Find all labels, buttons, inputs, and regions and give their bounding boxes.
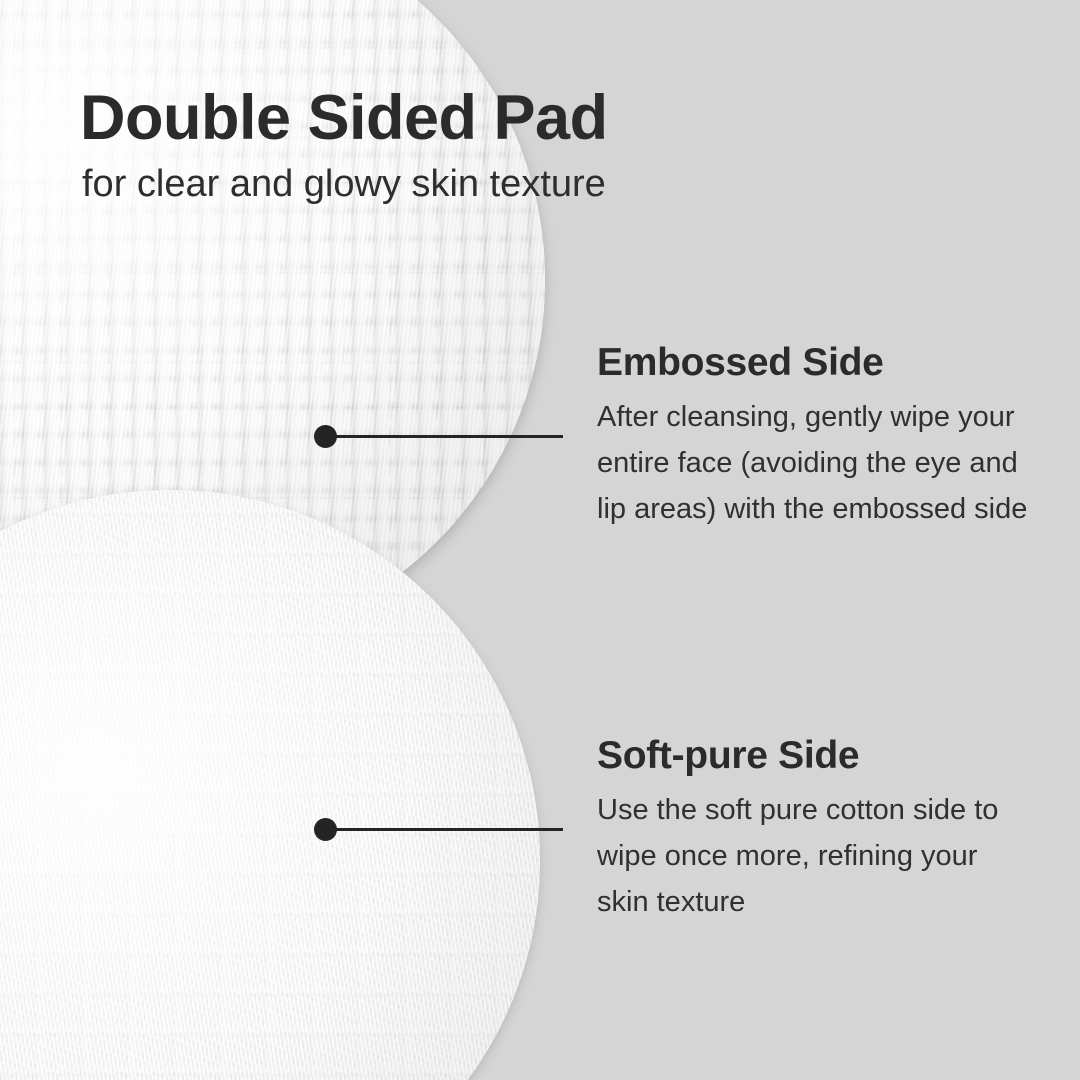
- callout-leader-line: [331, 435, 563, 438]
- callout-body-soft-pure: Use the soft pure cotton side to wipe on…: [597, 788, 1037, 925]
- page-subtitle: for clear and glowy skin texture: [82, 164, 980, 206]
- callout-heading-embossed: Embossed Side: [597, 343, 1037, 384]
- callout-marker-soft-pure: [314, 818, 564, 842]
- callout-body-embossed: After cleansing, gently wipe your entire…: [597, 395, 1037, 532]
- callout-marker-embossed: [314, 425, 564, 449]
- product-infographic: Double Sided Pad for clear and glowy ski…: [0, 0, 1080, 1080]
- callout-soft-pure: Soft-pure Side Use the soft pure cotton …: [597, 736, 1037, 925]
- callout-embossed: Embossed Side After cleansing, gently wi…: [597, 343, 1037, 532]
- page-title: Double Sided Pad: [80, 84, 980, 152]
- callout-heading-soft-pure: Soft-pure Side: [597, 736, 1037, 777]
- callout-leader-line: [331, 828, 563, 831]
- cotton-pad-soft-pure: [0, 490, 540, 1080]
- header-block: Double Sided Pad for clear and glowy ski…: [80, 84, 980, 206]
